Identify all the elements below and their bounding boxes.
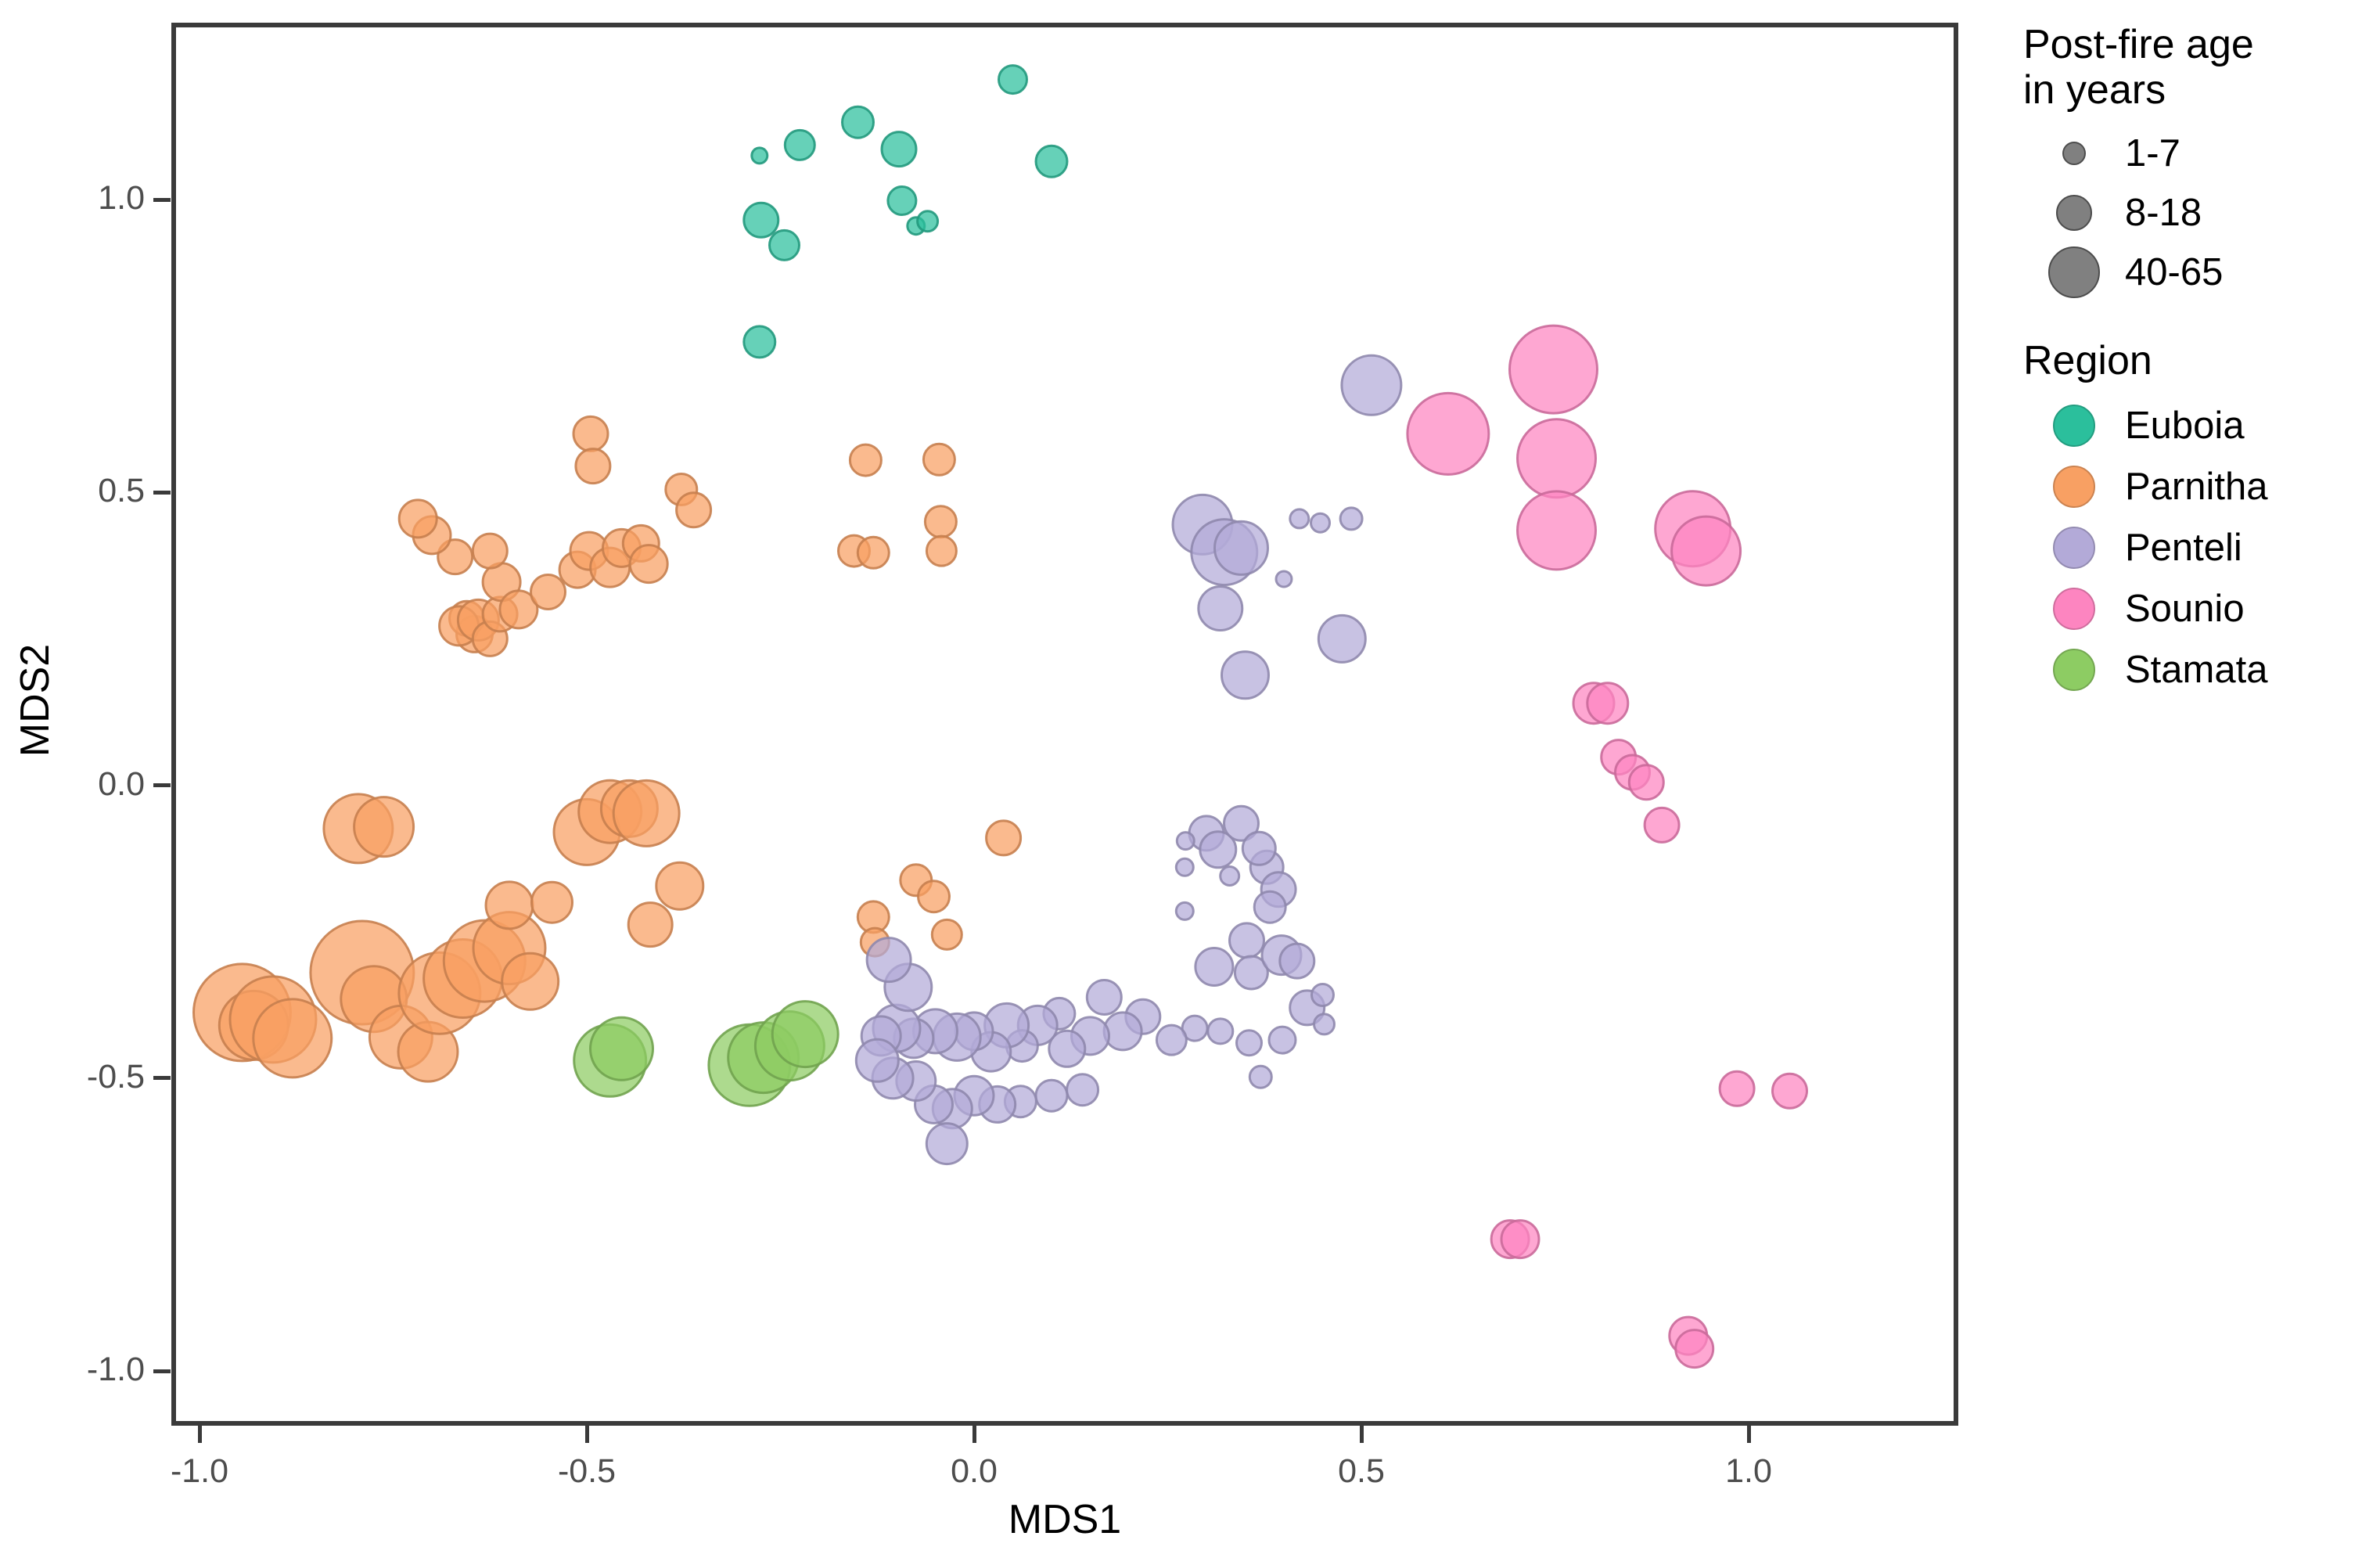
scatter-point [656,862,703,909]
legend-size-rows: 1-78-1840-65 [2023,124,2380,302]
scatter-point [1067,1074,1098,1106]
scatter-point [1036,1080,1067,1111]
scatter-point [857,537,889,568]
x-axis-tick [585,1426,589,1443]
legend-dot-icon [2053,405,2095,447]
legend-size-label: 8-18 [2125,191,2202,235]
scatter-point [1314,1014,1335,1034]
scatter-point [1269,1027,1296,1053]
scatter-point [919,881,950,912]
scatter-point [1230,923,1264,958]
legend-size-group: Post-fire age in years 1-78-1840-65 [2023,22,2380,302]
scatter-point [532,882,573,923]
legend-region-title: Region [2023,338,2380,383]
legend-item[interactable]: Penteli [2023,517,2380,578]
scatter-point [1221,867,1239,886]
legend-region-key [2023,466,2125,508]
x-axis-tick [972,1426,976,1443]
scatter-point [772,1002,838,1067]
y-axis-tick [153,783,171,787]
legend-region-key [2023,649,2125,691]
legend-size-label: 1-7 [2125,131,2180,175]
y-axis-tick [153,491,171,495]
scatter-point [253,999,332,1078]
scatter-point [744,203,778,237]
scatter-point [999,66,1027,94]
scatter-point [1104,1013,1141,1050]
scatter-point [1242,832,1275,865]
scatter-point [1237,1031,1262,1056]
x-axis-tick-label: -1.0 [121,1452,278,1491]
y-axis-tick-label: 0.0 [98,765,145,804]
legend-item[interactable]: 40-65 [2023,243,2380,302]
scatter-point [888,187,916,215]
scatter-point [576,449,610,484]
legend-region-label: Stamata [2125,648,2267,692]
series-euboia [744,66,1067,358]
scatter-point [1312,984,1334,1006]
legend-size-key [2023,195,2125,231]
x-axis-tick [1747,1426,1751,1443]
scatter-point [1290,509,1309,528]
scatter-point [1342,355,1401,415]
scatter-point [1518,419,1596,498]
x-axis-tick-label: 0.5 [1283,1452,1440,1491]
legend-size-key [2023,246,2125,298]
scatter-point [613,780,679,846]
legend-region-label: Penteli [2125,526,2242,570]
legend-item[interactable]: 1-7 [2023,124,2380,183]
scatter-point [399,500,437,538]
legend-item[interactable]: 8-18 [2023,183,2380,243]
scatter-point [1036,146,1067,177]
scatter-points-layer [176,27,1954,1421]
scatter-point [473,534,507,568]
scatter-point [1276,571,1292,587]
scatter-point [1208,1019,1233,1044]
y-axis-title: MDS2 [12,387,59,1013]
scatter-point [918,211,938,232]
scatter-point [867,938,911,982]
legend-size-label: 40-65 [2125,250,2223,294]
legend-region-label: Parnitha [2125,465,2268,509]
legend-size-title: Post-fire age in years [2023,22,2380,113]
legend-dot-icon [2048,246,2100,298]
legend-item[interactable]: Parnitha [2023,456,2380,517]
scatter-point [1672,516,1741,585]
scatter-point [1587,683,1628,724]
scatter-point [628,903,672,947]
scatter-point [630,545,667,583]
scatter-point [1408,393,1489,474]
series-penteli [856,355,1401,1164]
y-axis-tick [153,198,171,202]
x-axis-tick-label: 0.0 [896,1452,1052,1491]
scatter-point [1176,858,1193,876]
legend-dot-icon [2053,527,2095,569]
scatter-point [1177,833,1194,850]
y-axis-tick [153,1076,171,1080]
scatter-point [677,493,711,527]
scatter-point [856,1039,898,1081]
scatter-point [926,536,956,566]
scatter-point [843,106,874,138]
legend-dot-icon [2056,195,2092,231]
scatter-point [591,1017,653,1080]
scatter-point [1215,521,1268,574]
x-axis-tick [198,1426,202,1443]
scatter-point [1087,980,1121,1015]
scatter-point [531,575,566,610]
scatter-point [1195,948,1233,986]
scatter-point [502,953,559,1009]
legend-dot-icon [2053,649,2095,691]
legend-dot-icon [2062,142,2086,165]
scatter-point [926,1124,967,1164]
scatter-point [1340,508,1362,530]
scatter-point [987,821,1021,855]
x-axis-tick [1360,1426,1364,1443]
y-axis-tick-label: -1.0 [87,1351,145,1389]
scatter-point [1199,587,1242,631]
plot-area [176,27,1954,1421]
scatter-point [1510,326,1598,413]
legend-item[interactable]: Euboia [2023,395,2380,456]
plot-panel [171,23,1958,1426]
y-axis-tick-label: -0.5 [87,1058,145,1096]
x-axis-title: MDS1 [171,1496,1958,1543]
scatter-point [1720,1071,1754,1106]
x-axis-tick-label: 1.0 [1670,1452,1827,1491]
scatter-point [1176,902,1193,919]
legend: Post-fire age in years 1-78-1840-65 Regi… [2023,17,2380,700]
scatter-point [744,326,775,358]
scatter-point [770,230,800,260]
scatter-point [1249,1066,1271,1088]
scatter-point [923,444,955,475]
legend-dot-icon [2053,588,2095,630]
legend-region-label: Euboia [2125,404,2245,448]
scatter-point [1311,513,1330,532]
scatter-point [1773,1074,1807,1108]
scatter-point [1645,808,1679,842]
scatter-point [1676,1330,1713,1368]
scatter-point [1629,765,1663,800]
legend-dot-icon [2053,466,2095,508]
scatter-point [932,919,962,949]
scatter-point [1518,491,1596,570]
y-axis-tick [153,1369,171,1373]
scatter-point [573,416,608,451]
scatter-point [1254,891,1285,923]
series-stamata [574,1002,838,1106]
scatter-point [1156,1025,1186,1055]
legend-region-key [2023,588,2125,630]
scatter-point [752,148,768,164]
scatter-point [882,132,916,167]
scatter-point [486,882,533,929]
scatter-point [850,444,881,476]
scatter-point [354,797,414,857]
legend-size-key [2023,142,2125,165]
y-axis-tick-label: 1.0 [98,179,145,218]
legend-item[interactable]: Stamata [2023,639,2380,700]
legend-region-key [2023,405,2125,447]
y-axis-tick-label: 0.5 [98,472,145,510]
scatter-point [785,130,814,160]
nmds-scatter-figure: 1.00.50.0-0.5-1.0-1.0-0.50.00.51.0 MDS1 … [0,0,2380,1547]
scatter-point [1318,615,1365,662]
scatter-point [1222,652,1269,699]
x-axis-tick-label: -0.5 [509,1452,665,1491]
legend-region-label: Sounio [2125,587,2245,631]
scatter-point [1280,944,1314,978]
legend-region-key [2023,527,2125,569]
legend-item[interactable]: Sounio [2023,578,2380,639]
scatter-point [1501,1221,1539,1258]
scatter-point [925,506,956,538]
legend-region-rows: EuboiaParnithaPenteliSounioStamata [2023,395,2380,700]
series-sounio [1408,326,1807,1368]
legend-region-group: Region EuboiaParnithaPenteliSounioStamat… [2023,338,2380,700]
